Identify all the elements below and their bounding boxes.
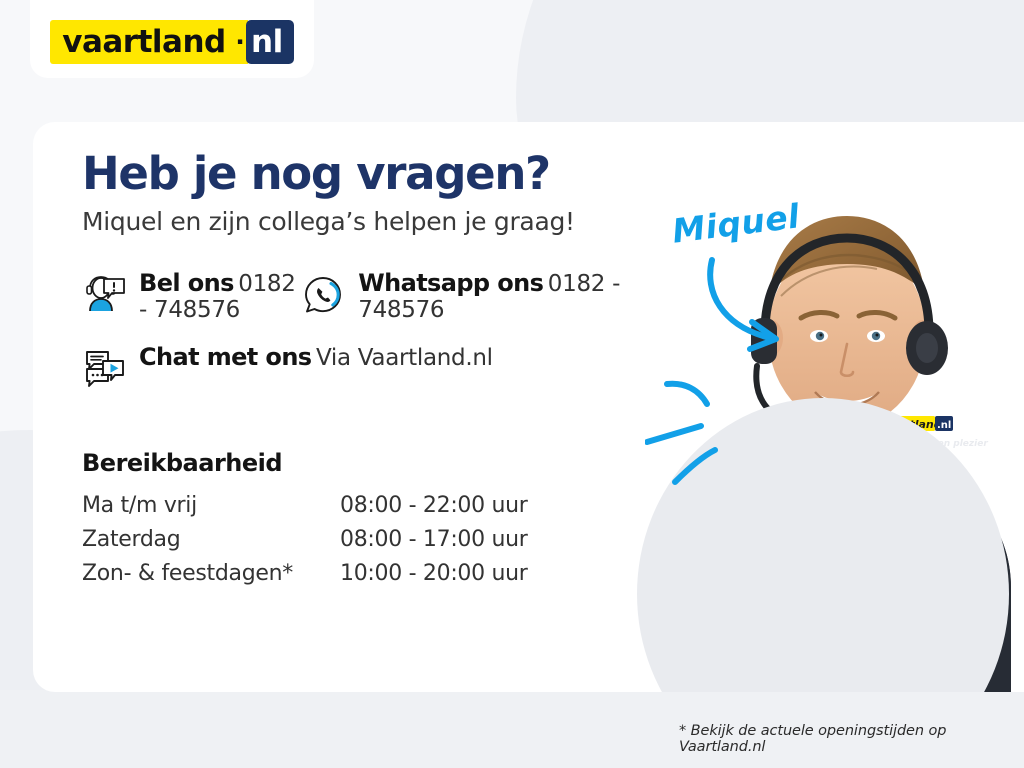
contact-item-chat[interactable]: Chat met ons Via Vaartland.nl — [82, 344, 642, 391]
contact-methods: Bel ons 0182 - 748576 Whatsapp ons 0182 … — [82, 270, 642, 392]
opening-hours-section: Bereikbaarheid Ma t/m vrij 08:00 - 22:00… — [82, 449, 642, 586]
contact-whatsapp-text: Whatsapp ons 0182 - 748576 — [358, 270, 642, 324]
opening-hours-table: Ma t/m vrij 08:00 - 22:00 uur Zaterdag 0… — [82, 493, 642, 586]
contact-chat-link[interactable]: Via Vaartland.nl — [316, 345, 493, 371]
table-row: Zaterdag 08:00 - 17:00 uur — [82, 527, 642, 552]
hours-day: Zon- & feestdagen* — [82, 561, 340, 586]
page-subtitle: Miquel en zijn collega’s helpen je graag… — [82, 207, 642, 236]
footer-disclaimer: * Bekijk de actuele openingstijden op Va… — [679, 723, 1024, 755]
hours-day: Zaterdag — [82, 527, 340, 552]
contact-chat-title: Chat met ons — [139, 343, 312, 371]
headset-person-icon — [82, 273, 126, 317]
contact-call-text: Bel ons 0182 - 748576 — [139, 270, 301, 324]
hours-day: Ma t/m vrij — [82, 493, 340, 518]
vaartland-logo[interactable]: vaartland · nl — [50, 20, 294, 64]
logo-tld: nl — [246, 20, 294, 64]
contact-chat-text: Chat met ons Via Vaartland.nl — [139, 344, 493, 372]
table-row: Zon- & feestdagen* 10:00 - 20:00 uur — [82, 561, 642, 586]
page-title: Heb je nog vragen? — [82, 150, 642, 199]
opening-hours-title: Bereikbaarheid — [82, 449, 642, 477]
contact-call-title: Bel ons — [139, 269, 234, 297]
contact-item-whatsapp[interactable]: Whatsapp ons 0182 - 748576 — [301, 270, 642, 324]
contact-item-call[interactable]: Bel ons 0182 - 748576 — [82, 270, 301, 324]
hours-time: 08:00 - 17:00 uur — [340, 527, 528, 552]
hours-time: 08:00 - 22:00 uur — [340, 493, 528, 518]
content-column: Heb je nog vragen? Miquel en zijn colleg… — [82, 150, 642, 595]
whatsapp-icon — [301, 273, 345, 317]
logo-card: vaartland · nl — [30, 0, 314, 78]
contact-whatsapp-title: Whatsapp ons — [358, 269, 543, 297]
contact-row-primary: Bel ons 0182 - 748576 Whatsapp ons 0182 … — [82, 270, 642, 324]
logo-wordmark: vaartland — [50, 20, 235, 64]
hours-time: 10:00 - 20:00 uur — [340, 561, 528, 586]
curved-arrow-icon — [700, 252, 810, 362]
table-row: Ma t/m vrij 08:00 - 22:00 uur — [82, 493, 642, 518]
shirt-logo-tld: .nl — [937, 420, 951, 431]
chat-bubbles-icon — [82, 347, 126, 391]
motion-lines-icon — [645, 360, 755, 490]
